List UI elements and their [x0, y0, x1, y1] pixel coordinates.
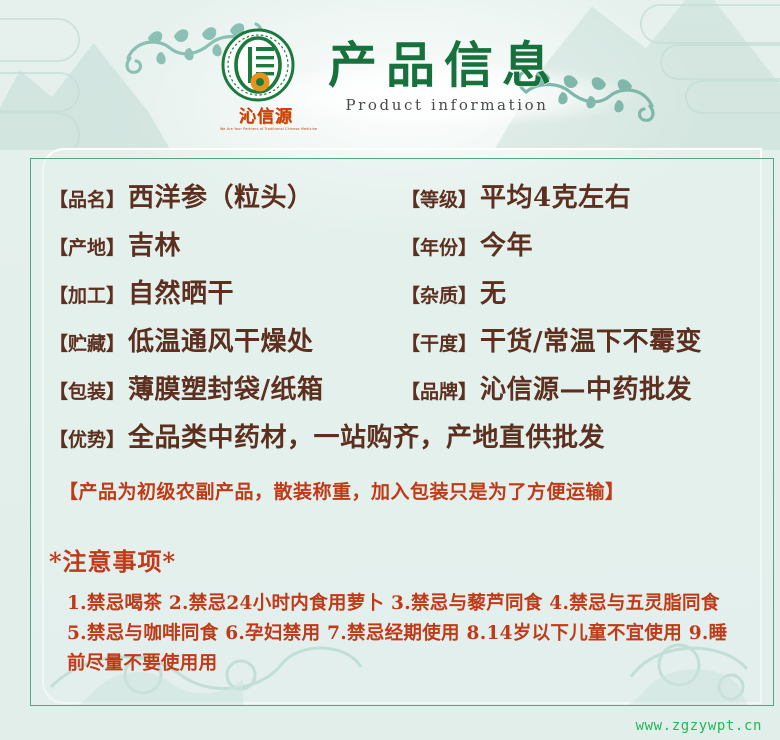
- spec-label: 【包装】: [49, 377, 125, 404]
- product-info-page: 沁信源 We Are Your Partners of Traditional …: [0, 0, 780, 740]
- spec-value: 西洋参（粒头）: [128, 177, 314, 214]
- spec-label: 【贮藏】: [49, 329, 125, 356]
- brand-logo[interactable]: 沁信源 We Are Your Partners of Traditional …: [220, 27, 312, 131]
- spec-value: 自然晒干: [128, 273, 234, 310]
- spec-label: 【等级】: [401, 185, 477, 212]
- spec-item: 【等级】 平均4克左右: [401, 177, 631, 214]
- spec-label: 【年份】: [401, 233, 477, 260]
- spec-rows: 【品名】 西洋参（粒头） 【等级】 平均4克左右 【产地】 吉林 【年份】 今年: [31, 159, 773, 465]
- spec-item: 【加工】 自然晒干: [49, 273, 401, 310]
- spec-value: 干货/常温下不霉变: [480, 321, 702, 358]
- page-title: 产品信息: [328, 40, 560, 91]
- spec-row: 【品名】 西洋参（粒头） 【等级】 平均4克左右: [49, 177, 773, 225]
- spec-label: 【杂质】: [401, 281, 477, 308]
- caution-list: 1.禁忌喝茶 2.禁忌24小时内食用萝卜 3.禁忌与藜芦同食 4.禁忌与五灵脂同…: [67, 589, 739, 679]
- spec-value: 今年: [480, 225, 533, 262]
- spec-row: 【加工】 自然晒干 【杂质】 无: [49, 273, 773, 321]
- spec-item: 【优势】 全品类中药材，一站购齐，产地直供批发: [49, 417, 605, 454]
- spec-item: 【干度】 干货/常温下不霉变: [401, 321, 702, 358]
- spec-row: 【产地】 吉林 【年份】 今年: [49, 225, 773, 273]
- logo-wordmark: 沁信源: [220, 109, 312, 126]
- spec-label: 【干度】: [401, 329, 477, 356]
- spec-item: 【品牌】 沁信源—中药批发: [401, 369, 692, 406]
- spec-item: 【产地】 吉林: [49, 225, 401, 262]
- spec-item: 【品名】 西洋参（粒头）: [49, 177, 401, 214]
- spec-value: 无: [480, 273, 507, 310]
- circular-seal-xin-icon: [220, 27, 312, 107]
- spec-label: 【加工】: [49, 281, 125, 308]
- spec-value: 吉林: [128, 225, 181, 262]
- site-watermark: www.zgzywpt.cn: [636, 718, 762, 734]
- caution-heading: *注意事项*: [49, 542, 773, 577]
- spec-label: 【产地】: [49, 233, 125, 260]
- spec-item: 【贮藏】 低温通风干燥处: [49, 321, 401, 358]
- spec-item: 【年份】 今年: [401, 225, 533, 262]
- packaging-note: 【产品为初级农副产品，散装称重，加入包装只是为了方便运输】: [59, 477, 773, 504]
- spec-label: 【品名】: [49, 185, 125, 212]
- logo-tagline: We Are Your Partners of Traditional Chin…: [220, 128, 312, 131]
- page-subtitle: Product information: [328, 96, 560, 114]
- page-header: 沁信源 We Are Your Partners of Traditional …: [0, 0, 780, 150]
- spec-row-advantage: 【优势】 全品类中药材，一站购齐，产地直供批发: [49, 417, 773, 465]
- spec-item: 【包装】 薄膜塑封袋/纸箱: [49, 369, 401, 406]
- spec-row: 【贮藏】 低温通风干燥处 【干度】 干货/常温下不霉变: [49, 321, 773, 369]
- product-info-panel: 【品名】 西洋参（粒头） 【等级】 平均4克左右 【产地】 吉林 【年份】 今年: [30, 158, 774, 706]
- spec-value: 沁信源—中药批发: [480, 369, 692, 406]
- spec-value: 低温通风干燥处: [128, 321, 314, 358]
- spec-label: 【优势】: [49, 425, 125, 452]
- spec-item: 【杂质】 无: [401, 273, 507, 310]
- spec-row: 【包装】 薄膜塑封袋/纸箱 【品牌】 沁信源—中药批发: [49, 369, 773, 417]
- spec-label: 【品牌】: [401, 377, 477, 404]
- spec-value: 薄膜塑封袋/纸箱: [128, 369, 324, 406]
- spec-value: 平均4克左右: [480, 177, 631, 214]
- spec-value: 全品类中药材，一站购齐，产地直供批发: [128, 417, 605, 454]
